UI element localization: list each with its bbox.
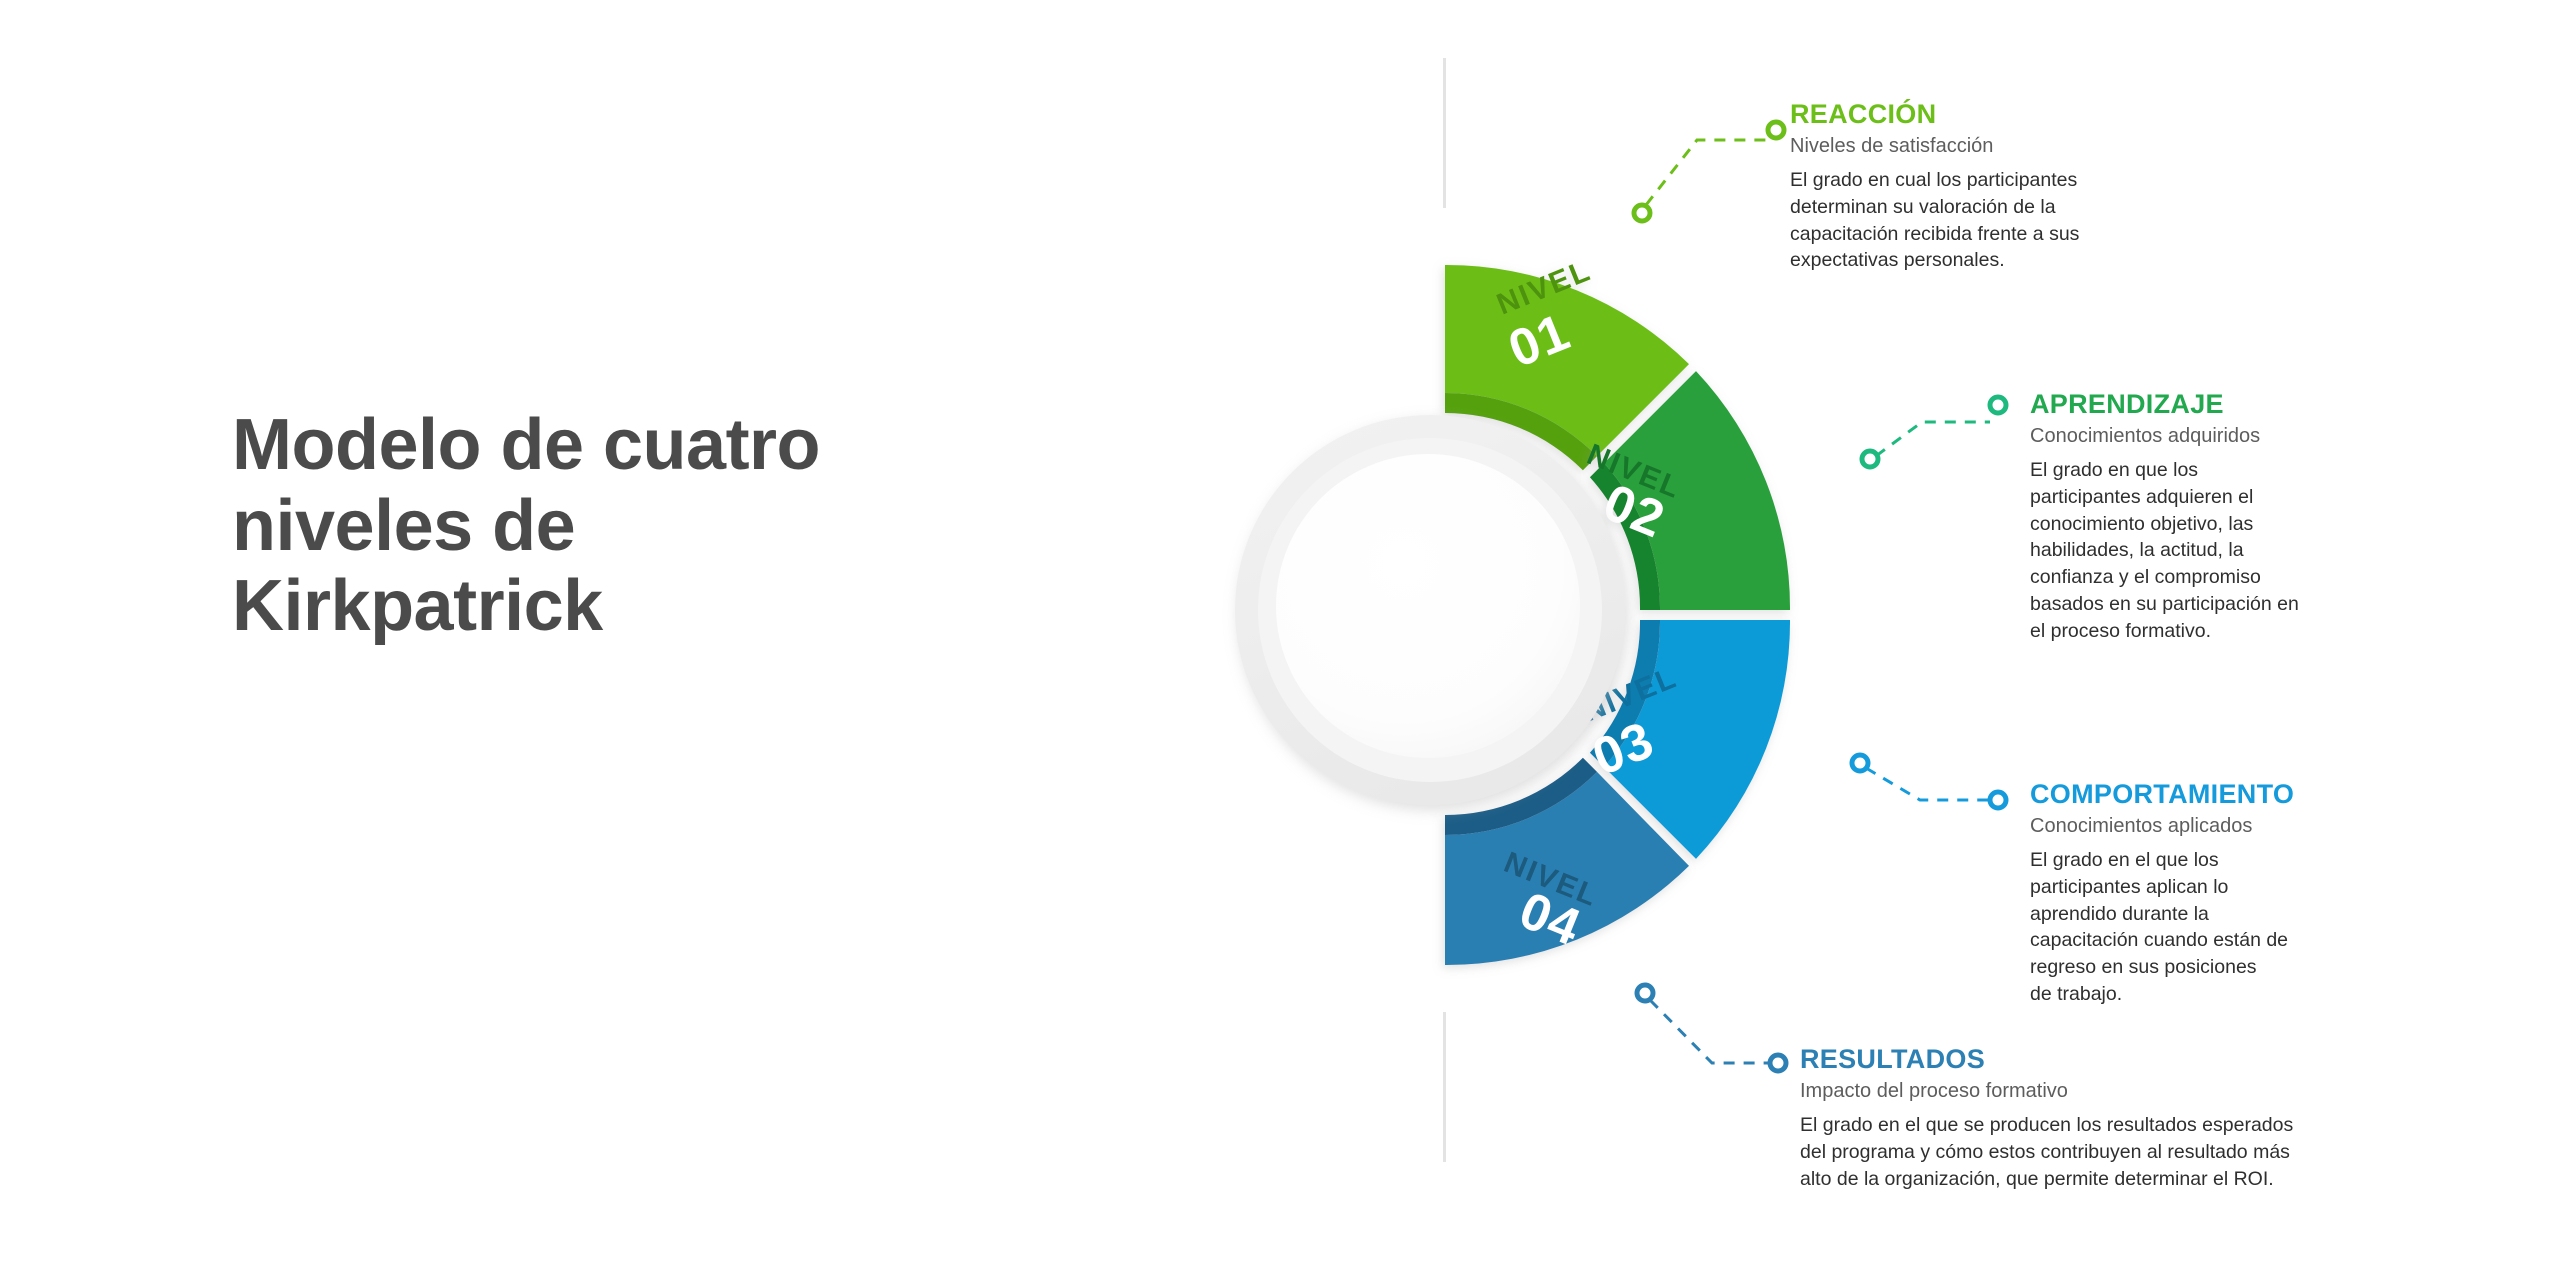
callout-1-description: El grado en cual los participantes deter… xyxy=(1790,167,2150,274)
callout-aprendizaje: APRENDIZAJE Conocimientos adquiridos El … xyxy=(2030,390,2370,644)
connector-2-dot-outer xyxy=(1990,397,2006,413)
callout-2-title: APRENDIZAJE xyxy=(2030,390,2370,418)
callout-2-subtitle: Conocimientos adquiridos xyxy=(2030,424,2370,448)
page-title: Modelo de cuatro niveles de Kirkpatrick xyxy=(232,405,1052,647)
callout-2-description: El grado en que los participantes adquie… xyxy=(2030,457,2370,644)
callout-reaccion: REACCIÓN Niveles de satisfacción El grad… xyxy=(1790,100,2150,274)
callout-3-description: El grado en el que los participantes apl… xyxy=(2030,847,2390,1007)
callout-4-description: El grado en el que se producen los resul… xyxy=(1800,1112,2400,1192)
callout-resultados: RESULTADOS Impacto del proceso formativo… xyxy=(1800,1045,2400,1192)
callout-3-subtitle: Conocimientos aplicados xyxy=(2030,814,2390,838)
callout-4-subtitle: Impacto del proceso formativo xyxy=(1800,1079,2400,1103)
callout-4-title: RESULTADOS xyxy=(1800,1045,2400,1073)
wheel-center-disc xyxy=(1235,415,1625,805)
callout-comportamiento: COMPORTAMIENTO Conocimientos aplicados E… xyxy=(2030,780,2390,1008)
callout-3-title: COMPORTAMIENTO xyxy=(2030,780,2390,808)
connector-3-dot-outer xyxy=(1990,792,2006,808)
callout-1-subtitle: Niveles de satisfacción xyxy=(1790,134,2150,158)
callout-1-title: REACCIÓN xyxy=(1790,100,2150,128)
